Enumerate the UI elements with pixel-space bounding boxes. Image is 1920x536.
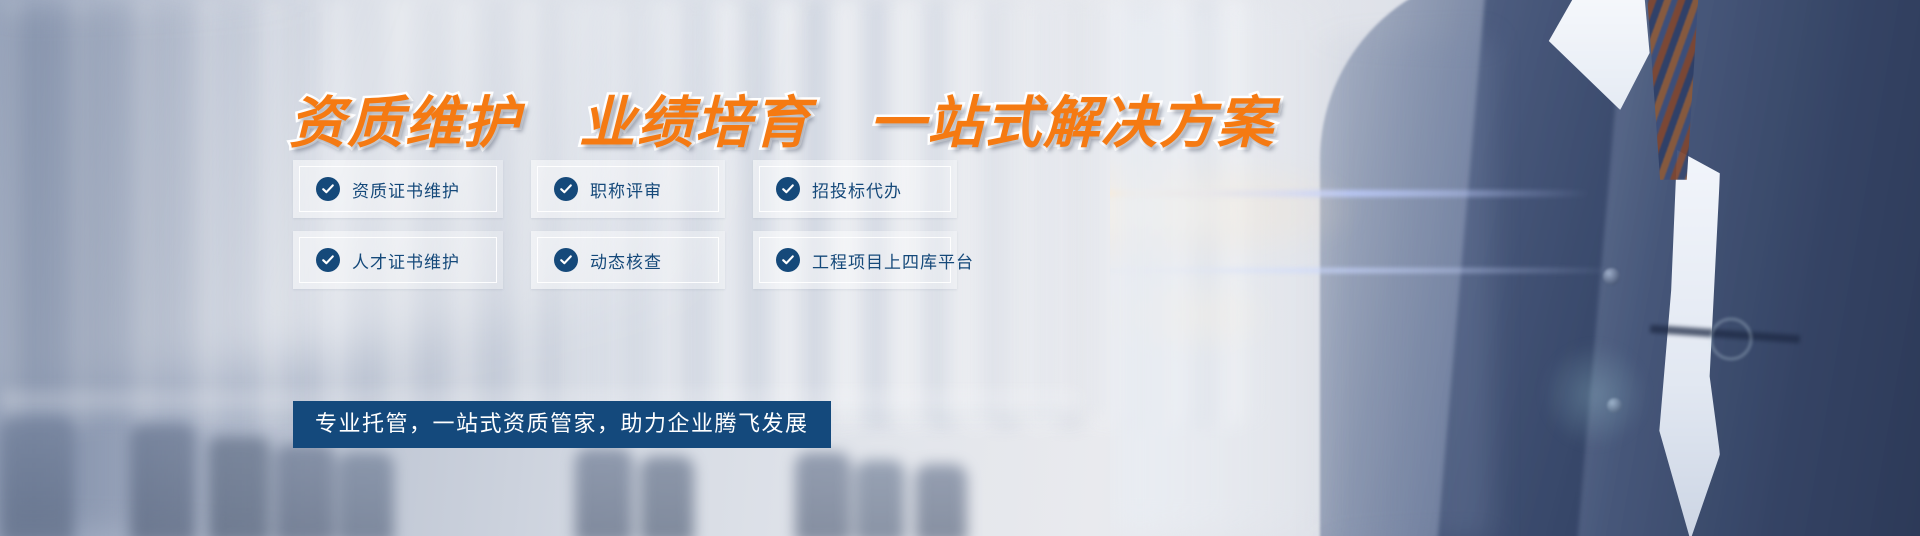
feature-card-inner: 资质证书维护 (299, 166, 497, 212)
feature-card-dynamic-inspection[interactable]: 动态核查 (531, 231, 725, 289)
feature-card-inner: 工程项目上四库平台 (759, 237, 951, 283)
feature-label: 招投标代办 (812, 177, 902, 202)
check-circle-icon (554, 248, 578, 272)
feature-row-2: 人才证书维护 动态核查 (293, 231, 957, 289)
lens-flare-ring (1710, 318, 1752, 360)
feature-label: 资质证书维护 (352, 177, 460, 202)
banner-content: 资质维护 业绩培育 一站式解决方案 资质证书维护 (0, 0, 1100, 536)
lens-flare-orb (1540, 340, 1650, 450)
feature-label: 人才证书维护 (352, 248, 460, 273)
feature-card-inner: 职称评审 (537, 166, 719, 212)
feature-row-1: 资质证书维护 职称评审 (293, 160, 957, 218)
check-circle-icon (776, 248, 800, 272)
feature-label: 职称评审 (590, 177, 662, 202)
promo-banner: 资质维护 业绩培育 一站式解决方案 资质证书维护 (0, 0, 1920, 536)
feature-card-four-database-platform[interactable]: 工程项目上四库平台 (753, 231, 957, 289)
feature-card-bidding-agency[interactable]: 招投标代办 (753, 160, 957, 218)
feature-card-qualification-certificate-maintenance[interactable]: 资质证书维护 (293, 160, 503, 218)
feature-card-inner: 招投标代办 (759, 166, 951, 212)
feature-card-inner: 动态核查 (537, 237, 719, 283)
banner-headline: 资质维护 业绩培育 一站式解决方案 (289, 78, 1275, 159)
check-circle-icon (776, 177, 800, 201)
banner-tagline: 专业托管，一站式资质管家，助力企业腾飞发展 (293, 401, 831, 448)
feature-card-talent-certificate-maintenance[interactable]: 人才证书维护 (293, 231, 503, 289)
feature-card-inner: 人才证书维护 (299, 237, 497, 283)
feature-list: 资质证书维护 职称评审 (293, 160, 957, 302)
feature-card-title-evaluation[interactable]: 职称评审 (531, 160, 725, 218)
check-circle-icon (554, 177, 578, 201)
check-circle-icon (316, 248, 340, 272)
feature-label: 动态核查 (590, 248, 662, 273)
feature-label: 工程项目上四库平台 (812, 248, 974, 273)
check-circle-icon (316, 177, 340, 201)
